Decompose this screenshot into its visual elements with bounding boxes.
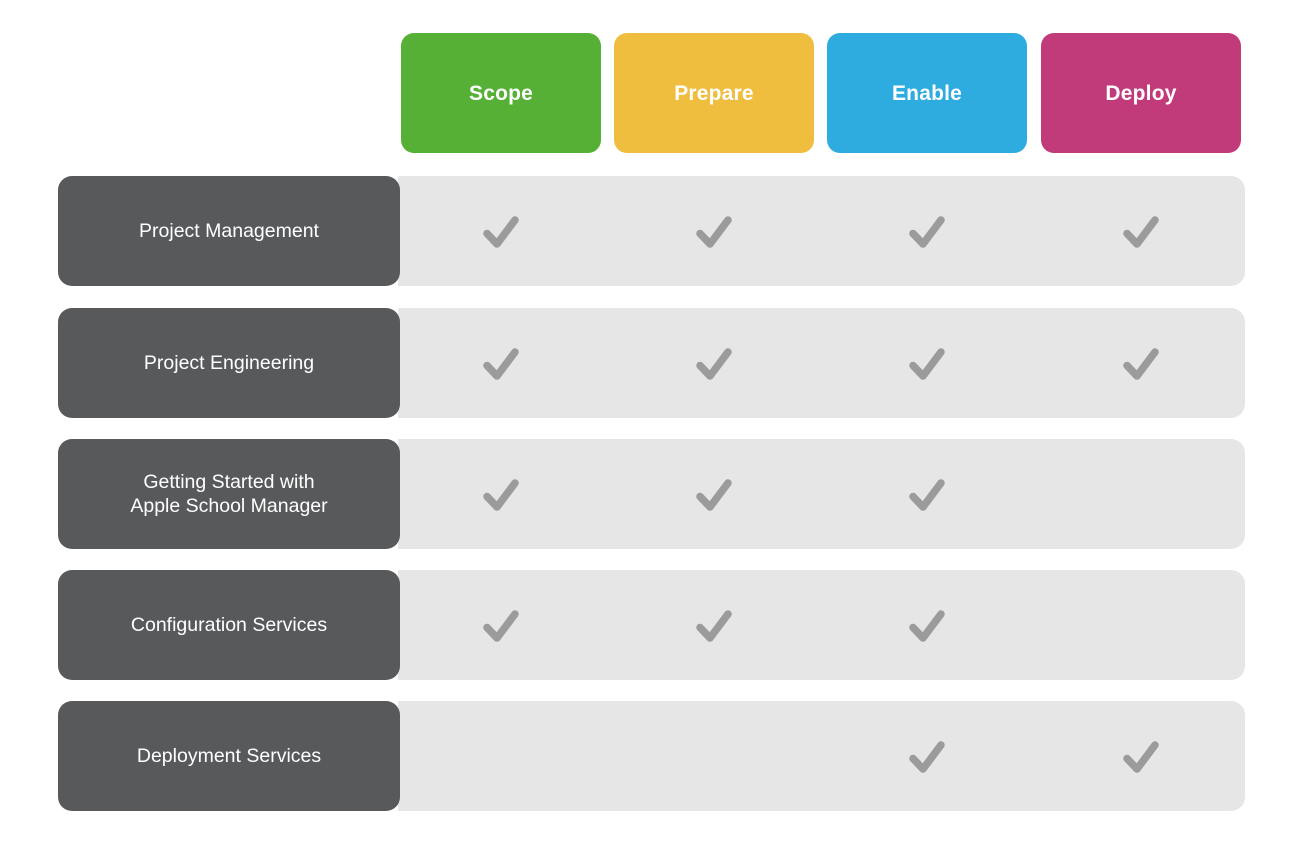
matrix-row: Configuration Services: [0, 570, 1303, 680]
matrix-row: Deployment Services: [0, 701, 1303, 811]
row-label-pill[interactable]: Project Engineering: [58, 308, 400, 418]
matrix-cell: [614, 570, 814, 680]
checkmark-icon: [691, 208, 737, 254]
matrix-cell: [401, 570, 601, 680]
row-label: Configuration Services: [131, 613, 327, 637]
matrix-cell: [401, 176, 601, 286]
matrix-cell: [827, 701, 1027, 811]
matrix-cell: [827, 308, 1027, 418]
matrix-cell: [1041, 308, 1241, 418]
matrix-cell: [827, 570, 1027, 680]
matrix-cell: [827, 176, 1027, 286]
matrix-cell: [827, 439, 1027, 549]
checkmark-icon: [478, 208, 524, 254]
matrix-row: Project Management: [0, 176, 1303, 286]
matrix-cell-empty: [691, 733, 737, 779]
matrix-cell-empty: [1118, 602, 1164, 648]
checkmark-icon: [904, 733, 950, 779]
matrix-cell: [1041, 570, 1241, 680]
checkmark-icon: [904, 471, 950, 517]
matrix-cell: [614, 701, 814, 811]
matrix-cell: [1041, 439, 1241, 549]
row-label: Project Engineering: [144, 351, 314, 375]
row-label-pill[interactable]: Configuration Services: [58, 570, 400, 680]
matrix-row: Getting Started with Apple School Manage…: [0, 439, 1303, 549]
checkmark-icon: [478, 602, 524, 648]
matrix-cell: [614, 439, 814, 549]
matrix-cell-empty: [478, 733, 524, 779]
checkmark-icon: [1118, 340, 1164, 386]
matrix-rows: Project ManagementProject EngineeringGet…: [0, 0, 1303, 859]
matrix-cell: [1041, 701, 1241, 811]
matrix-cell: [1041, 176, 1241, 286]
matrix-cell: [614, 176, 814, 286]
matrix-cell: [614, 308, 814, 418]
checkmark-icon: [691, 602, 737, 648]
row-label: Project Management: [139, 219, 319, 243]
row-label: Getting Started with Apple School Manage…: [130, 470, 327, 518]
checkmark-icon: [478, 340, 524, 386]
matrix-cell: [401, 439, 601, 549]
matrix-row: Project Engineering: [0, 308, 1303, 418]
checkmark-icon: [1118, 208, 1164, 254]
checkmark-icon: [478, 471, 524, 517]
checkmark-icon: [1118, 733, 1164, 779]
checkmark-icon: [904, 602, 950, 648]
matrix-cell: [401, 701, 601, 811]
capability-matrix: ScopePrepareEnableDeploy Project Managem…: [0, 0, 1303, 859]
matrix-cell: [401, 308, 601, 418]
checkmark-icon: [904, 340, 950, 386]
row-label: Deployment Services: [137, 744, 321, 768]
row-label-pill[interactable]: Getting Started with Apple School Manage…: [58, 439, 400, 549]
checkmark-icon: [904, 208, 950, 254]
checkmark-icon: [691, 340, 737, 386]
row-label-pill[interactable]: Project Management: [58, 176, 400, 286]
row-label-pill[interactable]: Deployment Services: [58, 701, 400, 811]
matrix-cell-empty: [1118, 471, 1164, 517]
checkmark-icon: [691, 471, 737, 517]
